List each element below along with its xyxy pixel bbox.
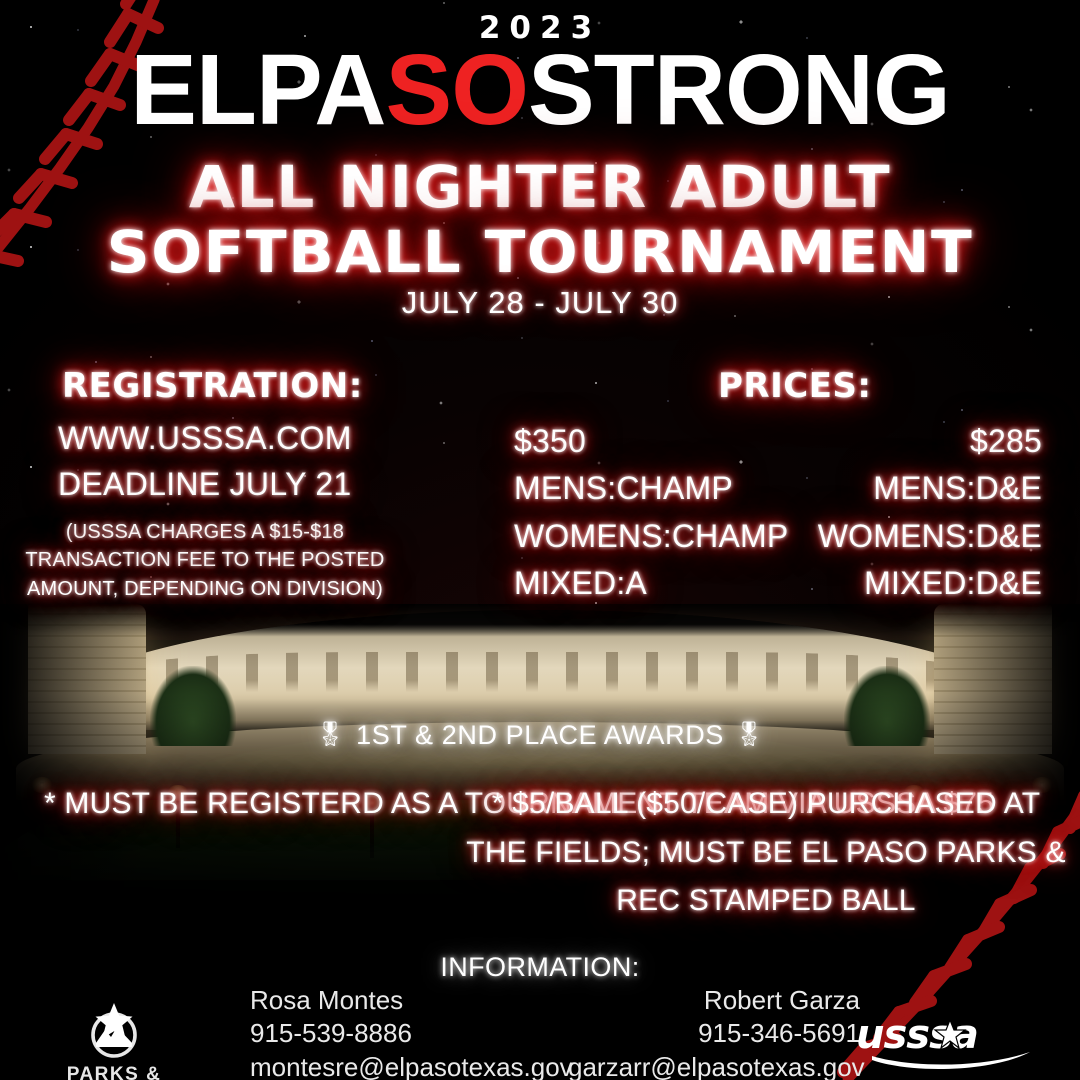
medal-icon: 🎖 — [734, 721, 765, 748]
awards-banner: 🎖1ST & 2ND PLACE AWARDS🎖 — [0, 720, 1080, 751]
registration-heading: REGISTRATION: — [62, 366, 363, 406]
information-heading: INFORMATION: — [0, 952, 1080, 983]
registration-fee-note: (USSSA CHARGES A $15-$18 TRANSACTION FEE… — [10, 518, 400, 603]
event-title-line2: SOFTBALL TOURNAMENT — [0, 220, 1080, 285]
price-amount-right: $285 — [818, 418, 1042, 465]
registration-deadline: DEADLINE JULY 21 — [58, 466, 352, 503]
registration-url[interactable]: WWW.USSSA.COM — [58, 420, 352, 457]
contact-card: Rosa Montes 915-539-8886 montesre@elpaso… — [250, 984, 573, 1080]
price-column-de: $285 MENS:D&E WOMENS:D&E MIXED:D&E — [818, 418, 1042, 607]
elpasostrong-wordmark: ELPASOSTRONG — [0, 38, 1080, 142]
event-dates: JULY 28 - JULY 30 — [0, 285, 1080, 321]
wordmark-part2: STRONG — [528, 34, 950, 146]
price-division: WOMENS:CHAMP — [514, 513, 788, 560]
poster-root: 2023 ELPASOSTRONG ALL NIGHTER ADULT SOFT… — [0, 0, 1080, 1080]
price-division: MENS:CHAMP — [514, 465, 788, 512]
parks-recreation-logo: PARKS & RECREATION CITY OF EL PASO — [8, 1002, 220, 1080]
contact-card: Robert Garza 915-346-5691 garzarr@elpaso… — [568, 984, 860, 1080]
medal-icon: 🎖 — [315, 721, 346, 748]
wordmark-highlight-so: SO — [386, 34, 528, 146]
contact-name: Rosa Montes — [250, 984, 573, 1017]
event-title-line1: ALL NIGHTER ADULT — [0, 155, 1080, 220]
parks-logo-name: PARKS & RECREATION — [8, 1064, 220, 1080]
price-division: WOMENS:D&E — [818, 513, 1042, 560]
contact-email[interactable]: montesre@elpasotexas.gov — [250, 1051, 573, 1080]
contact-phone[interactable]: 915-539-8886 — [250, 1017, 573, 1050]
price-division: MIXED:D&E — [818, 560, 1042, 607]
price-amount-left: $350 — [514, 418, 788, 465]
awards-label: 1ST & 2ND PLACE AWARDS — [356, 720, 724, 750]
price-division: MENS:D&E — [818, 465, 1042, 512]
usssa-wordmark: usssa — [856, 1012, 978, 1058]
usssa-logo: usssa — [852, 1012, 1062, 1070]
contact-name: Robert Garza — [568, 984, 860, 1017]
prices-heading: PRICES: — [718, 366, 872, 406]
price-column-champ: $350 MENS:CHAMP WOMENS:CHAMP MIXED:A — [514, 418, 788, 607]
contact-email[interactable]: garzarr@elpasotexas.gov — [568, 1051, 860, 1080]
price-division: MIXED:A — [514, 560, 788, 607]
contact-phone[interactable]: 915-346-5691 — [568, 1017, 860, 1050]
wordmark-part1: ELPA — [130, 34, 385, 146]
note-ball-requirement: * $5/BALL ($50/CASE) PURCHASED AT THE FI… — [466, 780, 1066, 926]
mountain-star-circle-icon — [83, 1002, 145, 1060]
